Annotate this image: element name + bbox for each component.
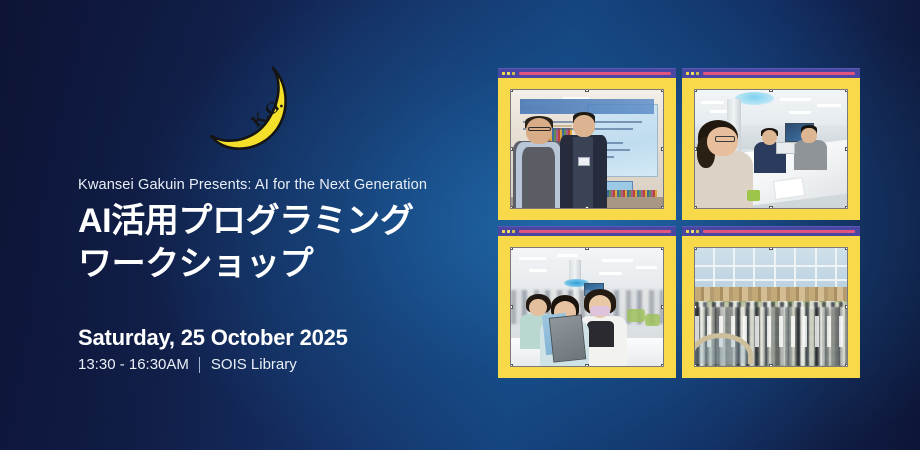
window-dot-minimize-icon[interactable] xyxy=(691,72,694,75)
window-dot-close-icon[interactable] xyxy=(502,230,505,233)
selection-handle[interactable] xyxy=(511,305,513,309)
event-date: Saturday, 25 October 2025 xyxy=(78,325,348,351)
selection-handle[interactable] xyxy=(845,248,847,250)
selection-handle[interactable] xyxy=(585,90,589,92)
photo-1[interactable] xyxy=(511,90,663,208)
window-dot-maximize-icon[interactable] xyxy=(696,230,699,233)
browser-window-4[interactable] xyxy=(682,226,860,378)
photo-2[interactable] xyxy=(695,90,847,208)
window-controls-3[interactable] xyxy=(502,230,515,233)
selection-handle[interactable] xyxy=(845,90,847,92)
tagline: Kwansei Gakuin Presents: AI for the Next… xyxy=(78,177,427,193)
window-controls-4[interactable] xyxy=(686,230,699,233)
selection-handle[interactable] xyxy=(769,248,773,250)
meta-separator xyxy=(199,357,200,373)
photo-frame-4 xyxy=(682,236,860,378)
event-meta: 13:30 - 16:30AM SOIS Library xyxy=(78,356,297,373)
selection-handle[interactable] xyxy=(769,206,773,208)
address-bar-2[interactable] xyxy=(703,72,855,75)
photo-frame-1 xyxy=(498,78,676,220)
window-controls-1[interactable] xyxy=(502,72,515,75)
selection-handle[interactable] xyxy=(585,364,589,366)
browser-window-1[interactable] xyxy=(498,68,676,220)
selection-handle[interactable] xyxy=(695,305,697,309)
event-time: 13:30 - 16:30AM xyxy=(78,356,189,373)
window-dot-maximize-icon[interactable] xyxy=(696,72,699,75)
address-bar-1[interactable] xyxy=(519,72,671,75)
photo-3-scene xyxy=(511,248,663,366)
browser-window-3[interactable] xyxy=(498,226,676,378)
window-dot-minimize-icon[interactable] xyxy=(691,230,694,233)
selection-handle[interactable] xyxy=(661,147,663,151)
selection-handle[interactable] xyxy=(845,305,847,309)
window-chrome-3[interactable] xyxy=(498,226,676,236)
photo-2-scene xyxy=(695,90,847,208)
window-chrome-2[interactable] xyxy=(682,68,860,78)
photo-gallery-grid xyxy=(498,68,860,384)
window-chrome-4[interactable] xyxy=(682,226,860,236)
selection-handle[interactable] xyxy=(661,248,663,250)
window-dot-close-icon[interactable] xyxy=(686,72,689,75)
browser-window-2[interactable] xyxy=(682,68,860,220)
photo-1-scene xyxy=(511,90,663,208)
selection-handle[interactable] xyxy=(511,147,513,151)
selection-handle[interactable] xyxy=(661,90,663,92)
window-controls-2[interactable] xyxy=(686,72,699,75)
photo-3[interactable] xyxy=(511,248,663,366)
title-line-2: ワークショップ xyxy=(78,243,473,286)
crescent-moon-logo: K.G. xyxy=(197,62,302,162)
selection-handle[interactable] xyxy=(695,206,697,208)
window-dot-maximize-icon[interactable] xyxy=(512,230,515,233)
photo-frame-2 xyxy=(682,78,860,220)
photo-4-scene xyxy=(695,248,847,366)
selection-handle[interactable] xyxy=(585,248,589,250)
selection-handle[interactable] xyxy=(769,364,773,366)
left-content-panel: K.G. Kwansei Gakuin Presents: AI for the… xyxy=(0,0,480,450)
address-bar-3[interactable] xyxy=(519,230,671,233)
window-dot-minimize-icon[interactable] xyxy=(507,72,510,75)
selection-handle[interactable] xyxy=(695,364,697,366)
selection-handle[interactable] xyxy=(511,206,513,208)
window-dot-minimize-icon[interactable] xyxy=(507,230,510,233)
photo-frame-3 xyxy=(498,236,676,378)
selection-handle[interactable] xyxy=(695,248,697,250)
selection-handle[interactable] xyxy=(511,364,513,366)
selection-handle[interactable] xyxy=(845,206,847,208)
selection-handle[interactable] xyxy=(845,147,847,151)
selection-handle[interactable] xyxy=(511,248,513,250)
window-dot-close-icon[interactable] xyxy=(686,230,689,233)
selection-handle[interactable] xyxy=(769,90,773,92)
window-dot-close-icon[interactable] xyxy=(502,72,505,75)
poster-canvas: K.G. Kwansei Gakuin Presents: AI for the… xyxy=(0,0,920,450)
selection-handle[interactable] xyxy=(695,147,697,151)
window-dot-maximize-icon[interactable] xyxy=(512,72,515,75)
event-venue: SOIS Library xyxy=(211,356,297,373)
title-line-1: AI活用プログラミング xyxy=(78,200,473,243)
selection-handle[interactable] xyxy=(511,90,513,92)
window-chrome-1[interactable] xyxy=(498,68,676,78)
selection-handle[interactable] xyxy=(845,364,847,366)
selection-handle[interactable] xyxy=(661,206,663,208)
selection-handle[interactable] xyxy=(661,364,663,366)
page-title: AI活用プログラミング ワークショップ xyxy=(78,200,473,286)
selection-handle[interactable] xyxy=(661,305,663,309)
photo-4[interactable] xyxy=(695,248,847,366)
address-bar-4[interactable] xyxy=(703,230,855,233)
selection-handle[interactable] xyxy=(585,206,589,208)
selection-handle[interactable] xyxy=(695,90,697,92)
